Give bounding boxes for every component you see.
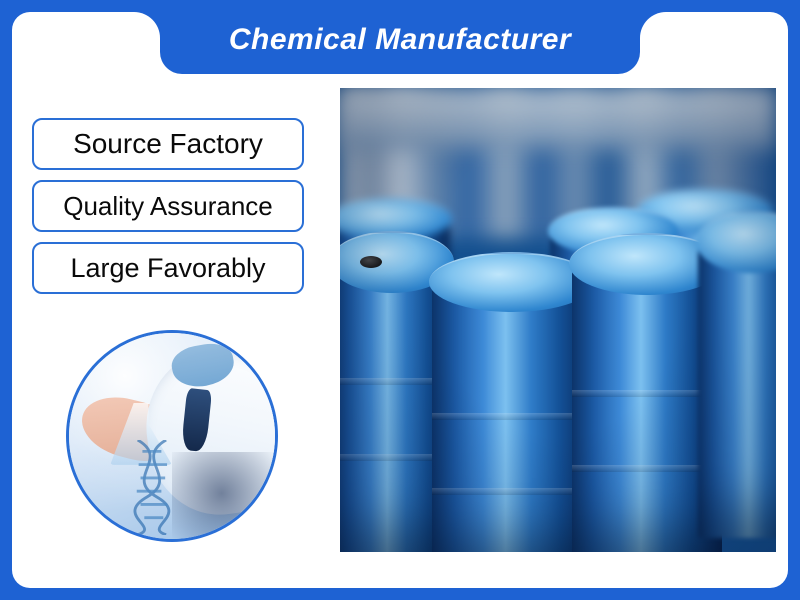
feature-list: Source Factory Quality Assurance Large F…: [32, 118, 304, 304]
drum-foreground-edge: [698, 238, 776, 538]
feature-pill-quality-assurance: Quality Assurance: [32, 180, 304, 232]
drum-foreground-center: [432, 278, 592, 552]
drum-cap-icon: [360, 256, 382, 268]
lab-photo-shadow: [172, 452, 278, 542]
feature-pill-large-favorably: Large Favorably: [32, 242, 304, 294]
banner-notch-left-icon: [134, 12, 160, 38]
poster-canvas: Chemical Manufacturer Source Factory Qua…: [0, 0, 800, 600]
product-photo: [340, 88, 776, 552]
page-title: Chemical Manufacturer: [160, 12, 640, 68]
product-photo-ceiling-light: [340, 88, 776, 150]
feature-pill-source-factory: Source Factory: [32, 118, 304, 170]
banner-notch-right-icon: [640, 12, 666, 38]
lab-photo-circle: [66, 330, 278, 542]
